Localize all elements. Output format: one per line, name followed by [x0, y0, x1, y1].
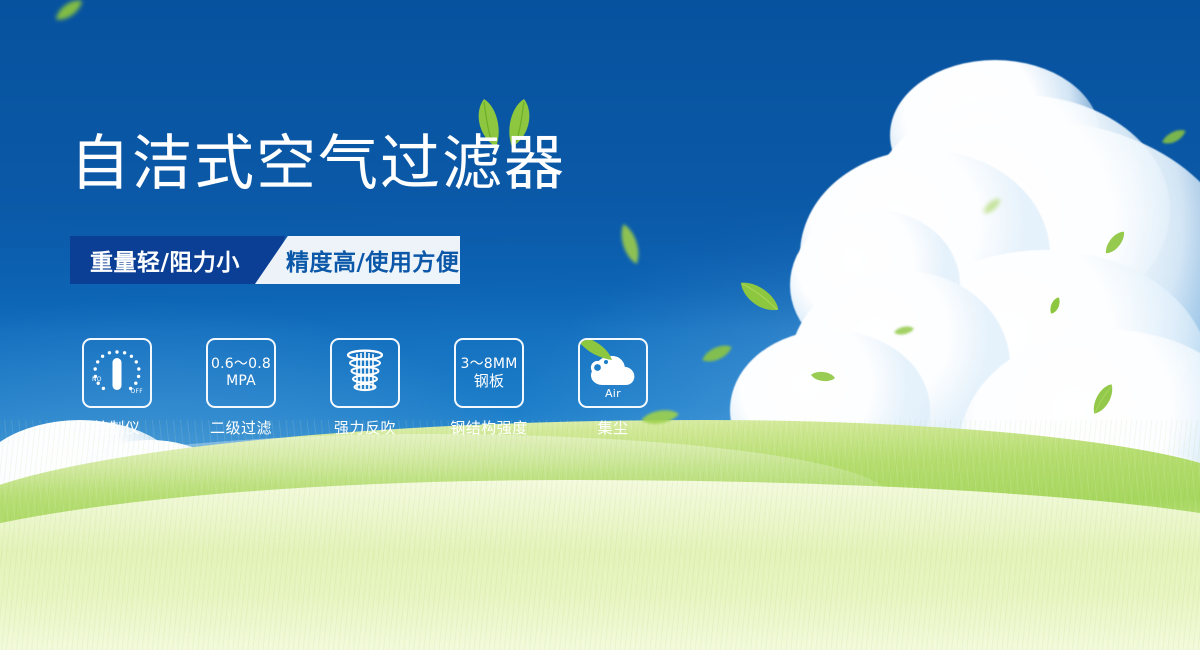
- feature-item-pressure[interactable]: 0.6〜0.8 MPA 二级过滤: [206, 338, 276, 438]
- dial-label-no: NO: [92, 376, 102, 383]
- air-label: Air: [580, 387, 646, 400]
- pressure-unit-text: MPA: [226, 373, 256, 390]
- feature-box: Air: [578, 338, 648, 408]
- feature-box: NO OFF: [82, 338, 152, 408]
- feature-box: 0.6〜0.8 MPA: [206, 338, 276, 408]
- filter-cartridge-icon: [340, 347, 390, 399]
- feature-box: [330, 338, 400, 408]
- steel-thickness-text: 3〜8MM: [461, 356, 518, 373]
- feature-label: 钢结构强度: [450, 417, 528, 438]
- page-title: 自洁式空气过滤器: [70, 128, 566, 200]
- subtitle-right-text: 精度高/使用方便: [286, 236, 459, 284]
- feature-icon-row: NO OFF 控制仪 0.6〜0.8 MPA 二级过滤: [82, 338, 648, 438]
- title-row: 自洁式空气过滤器: [70, 128, 770, 202]
- feature-item-control-dial[interactable]: NO OFF 控制仪: [82, 338, 152, 438]
- product-hero-banner: 自洁式空气过滤器 重量轻/阻力小 精度高/使用方便: [0, 0, 1200, 650]
- pressure-range-text: 0.6〜0.8: [211, 356, 271, 373]
- feature-box: 3〜8MM 钢板: [454, 338, 524, 408]
- steel-plate-text: 钢板: [474, 373, 504, 390]
- grass-field: [0, 420, 1200, 650]
- feature-item-blowback[interactable]: 强力反吹: [330, 338, 400, 438]
- leaf-accent-icon: [578, 338, 620, 368]
- feature-label: 二级过滤: [210, 417, 272, 438]
- feature-item-steel[interactable]: 3〜8MM 钢板 钢结构强度: [454, 338, 524, 438]
- subtitle-bar: 重量轻/阻力小 精度高/使用方便: [70, 236, 460, 284]
- feature-item-dust-collection[interactable]: Air 集尘: [578, 338, 648, 438]
- feature-label: 强力反吹: [334, 417, 396, 438]
- feature-label: 集尘: [597, 417, 628, 438]
- hero-content: 自洁式空气过滤器 重量轻/阻力小 精度高/使用方便: [70, 128, 770, 284]
- feature-label: 控制仪: [94, 417, 141, 438]
- dial-label-off: OFF: [130, 388, 143, 395]
- grass-texture-overlay: [0, 420, 1200, 650]
- subtitle-left-text: 重量轻/阻力小: [90, 236, 240, 284]
